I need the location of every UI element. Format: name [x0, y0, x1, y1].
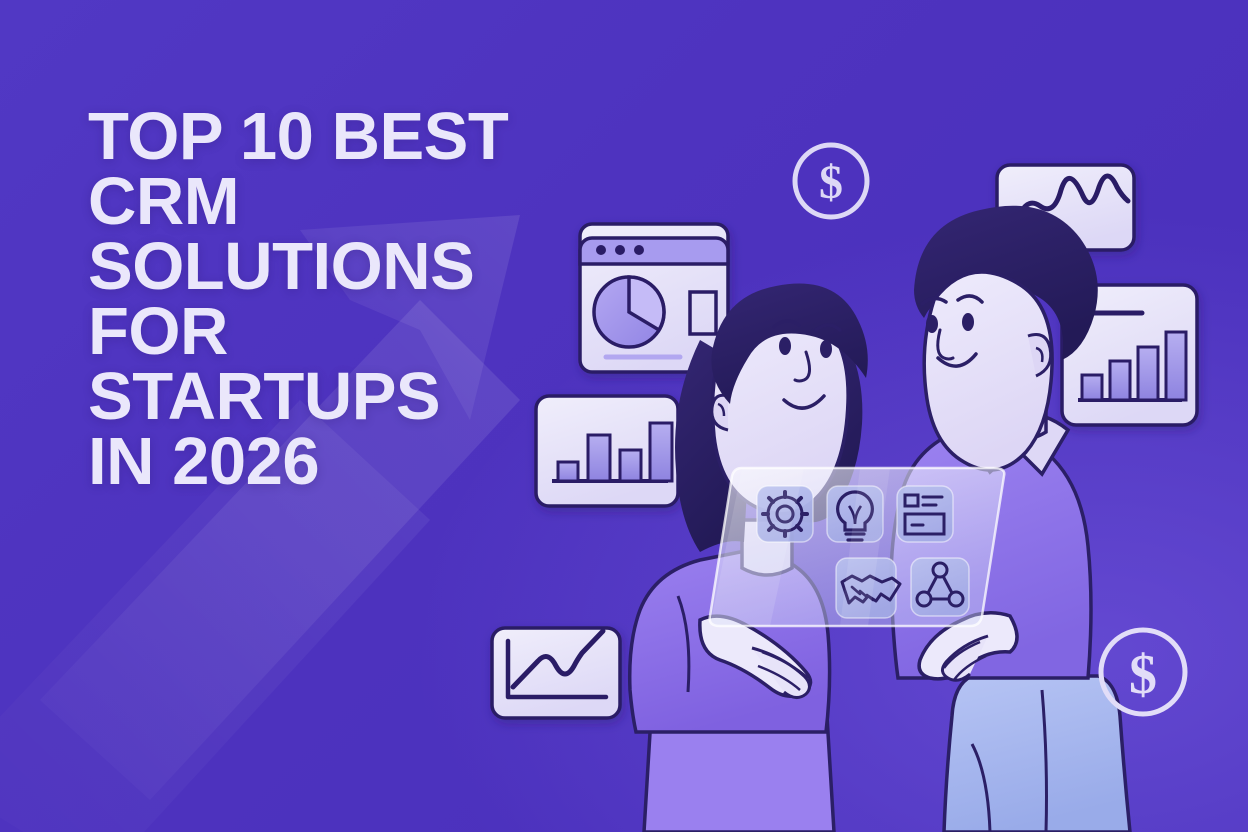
glass-tablet[interactable]: [710, 468, 1005, 626]
tablet-icon-document: [897, 486, 953, 542]
browser-dot: [596, 245, 606, 255]
line-chart-card: [492, 628, 620, 718]
eye: [962, 313, 974, 331]
hero-banner: TOP 10 BEST CRM SOLUTIONS FOR STARTUPS I…: [0, 0, 1248, 832]
eye: [926, 315, 938, 333]
browser-dot: [615, 245, 625, 255]
browser-pie-chart: [594, 277, 664, 347]
eye: [779, 337, 791, 355]
eye: [820, 340, 832, 358]
dollar-coin-bottom: $: [1101, 630, 1185, 714]
svg-text:$: $: [1129, 644, 1157, 706]
browser-dot: [634, 245, 644, 255]
dollar-coin-top: $: [795, 145, 867, 217]
tablet-icon-network: [911, 558, 969, 616]
illustration: $: [0, 0, 1248, 832]
bar-chart-card-left: [536, 396, 678, 506]
svg-text:$: $: [819, 156, 843, 209]
